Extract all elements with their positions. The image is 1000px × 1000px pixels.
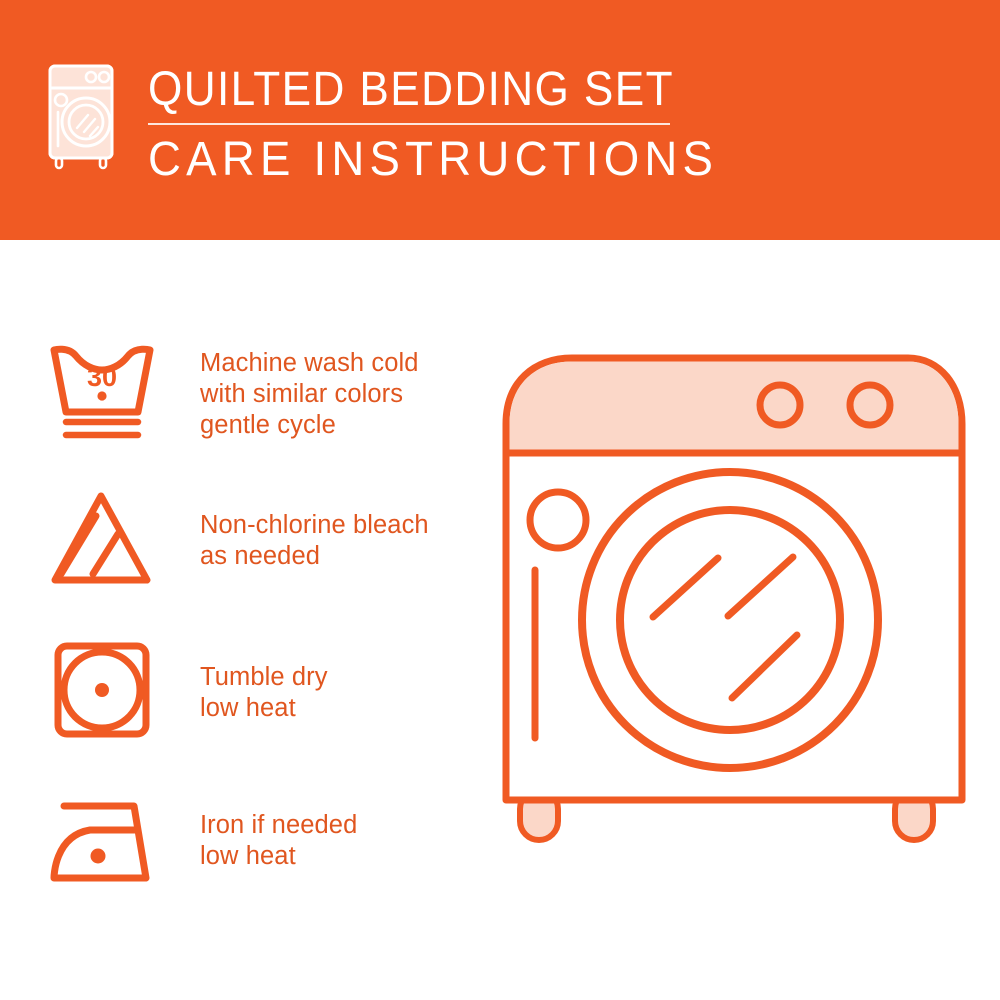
title-divider bbox=[148, 123, 670, 125]
non-chlorine-bleach-triangle-icon bbox=[46, 488, 158, 592]
wash-temperature-value: 30 bbox=[87, 362, 117, 392]
care-item-iron: Iron if needed low heat bbox=[46, 790, 357, 894]
tumble-dry-low-heat-icon bbox=[46, 640, 158, 744]
care-item-tumble-dry: Tumble dry low heat bbox=[46, 640, 328, 744]
front-load-washing-machine-illustration bbox=[480, 320, 1000, 940]
care-item-label: Machine wash cold with similar colors ge… bbox=[200, 340, 419, 441]
care-instructions-list: 30 Machine wash cold with similar colors… bbox=[0, 240, 470, 1000]
iron-low-heat-icon bbox=[46, 790, 158, 894]
header-banner: QUILTED BEDDING SET CARE INSTRUCTIONS bbox=[0, 0, 1000, 240]
page-subtitle: CARE INSTRUCTIONS bbox=[148, 133, 718, 187]
header-content: QUILTED BEDDING SET CARE INSTRUCTIONS bbox=[44, 62, 748, 187]
care-item-bleach: Non-chlorine bleach as needed bbox=[46, 488, 429, 592]
care-item-label: Iron if needed low heat bbox=[200, 790, 357, 872]
wash-tub-30-gentle-icon: 30 bbox=[46, 340, 158, 444]
washing-machine-icon bbox=[44, 62, 122, 174]
page-title: QUILTED BEDDING SET bbox=[148, 64, 700, 116]
header-title-block: QUILTED BEDDING SET CARE INSTRUCTIONS bbox=[148, 62, 748, 187]
care-item-machine-wash: 30 Machine wash cold with similar colors… bbox=[46, 340, 419, 444]
care-item-label: Non-chlorine bleach as needed bbox=[200, 488, 429, 572]
care-item-label: Tumble dry low heat bbox=[200, 640, 328, 724]
